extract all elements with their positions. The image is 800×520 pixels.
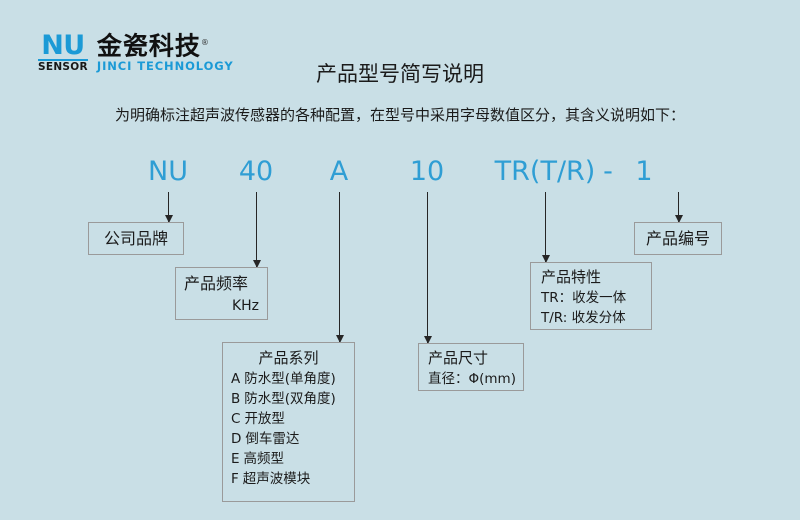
series-item-c: C开放型 [231,409,346,429]
series-label-c: 开放型 [244,411,285,427]
arrow-series [339,192,340,342]
series-key-b: B [231,391,240,407]
box-product-size: 产品尺寸 直径：Φ(mm) [418,343,524,391]
box-product-frequency: 产品频率 KHz [175,267,268,320]
series-key-f: F [231,471,239,487]
box-product-series: 产品系列 A防水型(单角度) B防水型(双角度) C开放型 D倒车雷达 E高频型… [222,342,355,502]
box-company-brand-title: 公司品牌 [104,227,168,251]
box-product-feature: 产品特性 TR：收发一体 T/R: 收发分体 [530,262,652,330]
model-part-frequency: 40 [239,155,273,189]
box-product-size-diameter: 直径：Φ(mm) [428,369,514,389]
series-label-a: 防水型(单角度) [244,371,336,387]
logo-brand-cn-text: 金瓷科技 [97,31,201,60]
registered-trademark-icon: ® [201,38,210,47]
logo-nu-text: NU [38,33,88,58]
model-part-feature: TR(T/R) [495,155,596,189]
logo-brand-cn: 金瓷科技® [97,29,234,59]
series-label-b: 防水型(双角度) [244,391,336,407]
model-part-size: 10 [410,155,444,189]
series-key-a: A [231,371,240,387]
arrow-code [678,192,679,222]
box-company-brand: 公司品牌 [88,222,184,255]
arrow-brand [168,192,169,222]
series-label-d: 倒车雷达 [245,431,299,447]
series-label-e: 高频型 [244,451,285,467]
box-product-frequency-title: 产品频率 [184,272,259,296]
series-item-f: F超声波模块 [231,469,346,489]
box-product-series-title: 产品系列 [231,347,346,369]
box-product-size-title: 产品尺寸 [428,347,514,369]
model-part-series: A [330,155,348,189]
series-label-f: 超声波模块 [243,471,311,487]
box-product-feature-title: 产品特性 [541,266,641,288]
arrow-freq [256,192,257,267]
page-subtitle: 为明确标注超声波传感器的各种配置，在型号中采用字母数值区分，其含义说明如下： [0,104,800,126]
page-title: 产品型号简写说明 [0,60,800,88]
model-part-brand: NU [148,155,188,189]
box-product-feature-tr: TR：收发一体 [541,288,641,308]
box-product-code: 产品编号 [634,222,722,255]
model-string-row: NU 40 A 10 TR(T/R) - 1 [0,155,800,191]
model-part-code: 1 [635,155,652,189]
box-product-code-title: 产品编号 [646,227,710,251]
series-item-a: A防水型(单角度) [231,369,346,389]
series-item-e: E高频型 [231,449,346,469]
model-part-dash: - [603,155,613,189]
series-key-c: C [231,411,240,427]
series-item-d: D倒车雷达 [231,429,346,449]
diagram-canvas: NU SENSOR 金瓷科技® JINCI TECHNOLOGY 产品型号简写说… [0,0,800,520]
arrow-feature [545,192,546,262]
arrow-size [427,192,428,343]
series-key-d: D [231,431,241,447]
series-key-e: E [231,451,240,467]
box-product-frequency-unit: KHz [184,296,259,317]
series-item-b: B防水型(双角度) [231,389,346,409]
box-product-feature-t-r: T/R: 收发分体 [541,308,641,328]
